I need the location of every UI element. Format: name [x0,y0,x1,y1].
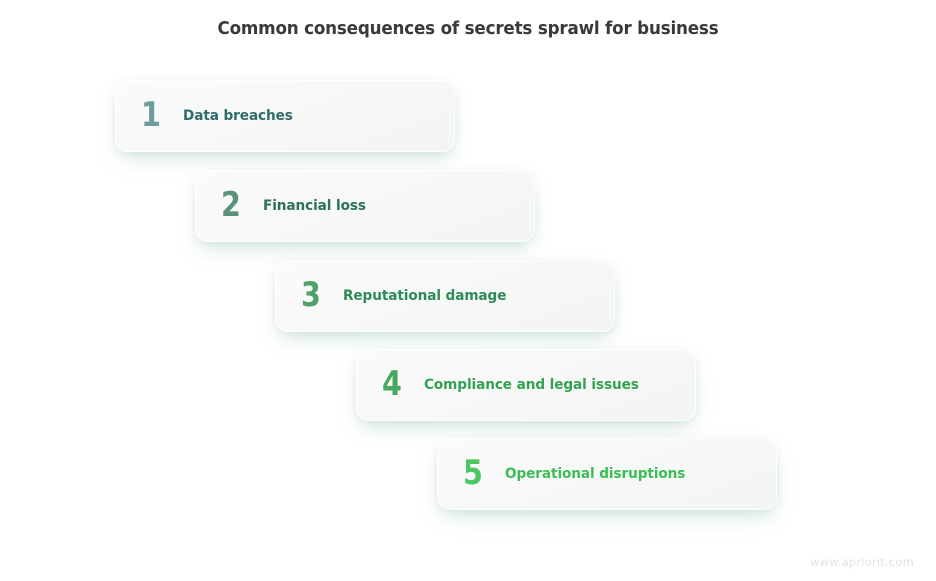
step-label-1: Data breaches [183,108,293,124]
step-card-1: 1 Data breaches [115,80,455,152]
step-number-5: 5 [463,456,485,490]
step-label-4: Compliance and legal issues [424,377,639,393]
step-label-5: Operational disruptions [505,466,685,482]
step-number-1: 1 [141,98,163,132]
step-number-4: 4 [382,367,404,401]
step-label-3: Reputational damage [343,288,506,304]
step-number-3: 3 [301,278,323,312]
step-label-2: Financial loss [263,198,366,214]
step-card-2: 2 Financial loss [195,170,535,242]
step-card-5: 5 Operational disruptions [437,438,777,510]
step-card-3: 3 Reputational damage [275,260,615,332]
step-number-2: 2 [221,188,243,222]
infographic-canvas: Common consequences of secrets sprawl fo… [0,0,936,581]
watermark: www.apriorit.com [810,555,914,569]
steps-staircase: 1 Data breaches 2 Financial loss 3 Reput… [0,0,936,581]
step-card-4: 4 Compliance and legal issues [356,349,696,421]
